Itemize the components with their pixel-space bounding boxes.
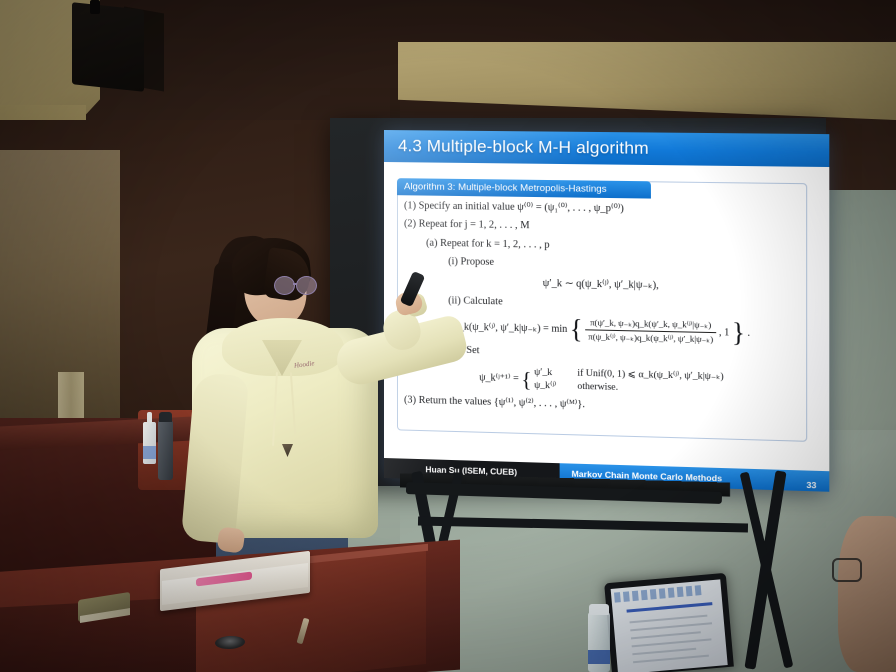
toolbar-icon xyxy=(623,591,630,601)
set-case-2-value: ψ_k⁽ʲ⁾ xyxy=(534,379,575,393)
speaker-bracket xyxy=(90,0,100,14)
algo-step-2: (2) Repeat for j = 1, 2, . . . , M xyxy=(404,220,802,236)
slide-title: 4.3 Multiple-block M-H algorithm xyxy=(384,136,649,159)
laptop-doc-line xyxy=(633,655,709,664)
cases-brace-icon: { xyxy=(521,367,531,391)
audience-member xyxy=(838,516,896,672)
ceiling-speaker-icon xyxy=(72,2,144,92)
laptop-doc-line xyxy=(631,631,701,639)
sanitizer-label xyxy=(143,446,156,459)
algorithm-steps: (1) Specify an initial value ψ⁽⁰⁾ = (ψ₁⁽… xyxy=(404,201,802,424)
algo-step-3: (3) Return the values {ψ⁽¹⁾, ψ⁽²⁾, . . .… xyxy=(404,395,802,416)
lecture-room-scene: 4.3 Multiple-block M-H algorithm Algorit… xyxy=(0,0,896,672)
set-case-2-condition: otherwise. xyxy=(577,380,618,392)
toolbar-icon xyxy=(614,592,621,602)
laptop-doc-line xyxy=(630,622,712,631)
alpha-denominator: π(ψ_k⁽ʲ⁾, ψ₋ₖ)q_k(ψ_k⁽ʲ⁾, ψ′_k|ψ₋ₖ) xyxy=(585,331,716,346)
algo-step-1: (1) Specify an initial value ψ⁽⁰⁾ = (ψ₁⁽… xyxy=(404,201,802,217)
alpha-one-term: , 1 xyxy=(719,327,729,338)
laptop-doc-line xyxy=(630,615,708,624)
laptop-doc-line xyxy=(632,648,696,656)
right-brace-icon: } xyxy=(732,318,745,348)
set-case-1-condition: if Unif(0, 1) ⩽ α_k(ψ_k⁽ʲ⁾, ψ′_k|ψ₋ₖ) xyxy=(577,367,723,382)
glasses-lens-left xyxy=(274,276,295,295)
algorithm-box-title: Algorithm 3: Multiple-block Metropolis-H… xyxy=(397,181,607,195)
audience-laptop xyxy=(604,573,734,672)
presenter-left-hand xyxy=(216,526,245,553)
toolbar-icon xyxy=(668,587,675,597)
toolbar-icon xyxy=(650,589,657,599)
laptop-doc-header-rule xyxy=(627,602,713,612)
glasses-lens-right xyxy=(296,276,317,295)
slide-body: Algorithm 3: Multiple-block Metropolis-H… xyxy=(384,162,829,455)
alpha-lhs: α_k(ψ_k⁽ʲ⁾, ψ′_k|ψ₋ₖ) = min xyxy=(454,322,568,336)
toolbar-icon xyxy=(632,591,639,601)
set-equation: ψ_k⁽ʲ⁺¹⁾ = { ψ′_k if Unif(0, 1) ⩽ α_k(ψ_… xyxy=(404,363,802,399)
toolbar-icon xyxy=(686,586,693,596)
left-brace-icon: { xyxy=(570,315,583,345)
slide-title-bar: 4.3 Multiple-block M-H algorithm xyxy=(384,130,829,167)
toolbar-icon xyxy=(641,590,648,600)
set-lhs: ψ_k⁽ʲ⁺¹⁾ = xyxy=(479,372,519,384)
algo-step-2a: (a) Repeat for k = 1, 2, . . . , p xyxy=(404,238,802,255)
water-bottle-cap xyxy=(589,604,609,615)
laptop-doc-line xyxy=(632,638,712,647)
toolbar-icon xyxy=(659,588,666,598)
alpha-fraction: π(ψ′_k, ψ₋ₖ)q_k(ψ′_k, ψ_k⁽ʲ⁾|ψ₋ₖ) π(ψ_k⁽… xyxy=(585,318,716,346)
sanitizer-pump-icon xyxy=(147,412,152,424)
toolbar-icon xyxy=(695,585,702,595)
alpha-period: . xyxy=(748,328,751,339)
algo-step-2a-i: (i) Propose xyxy=(404,256,802,273)
water-bottle-label xyxy=(588,650,610,664)
presenter-glasses-icon xyxy=(274,276,318,293)
algorithm-box: Algorithm 3: Multiple-block Metropolis-H… xyxy=(397,178,807,442)
audience-glasses-icon xyxy=(832,558,862,582)
algorithm-box-header: Algorithm 3: Multiple-block Metropolis-H… xyxy=(397,178,651,198)
set-case-1-value: ψ′_k xyxy=(534,366,575,380)
presentation-slide: 4.3 Multiple-block M-H algorithm Algorit… xyxy=(384,130,829,492)
algo-step-2a-ii: (ii) Calculate xyxy=(404,296,802,314)
laptop-screen xyxy=(611,579,728,672)
set-cases: ψ′_k if Unif(0, 1) ⩽ α_k(ψ_k⁽ʲ⁾, ψ′_k|ψ₋… xyxy=(534,366,724,397)
propose-equation: ψ′_k ∼ q(ψ_k⁽ʲ⁾, ψ′_k|ψ₋ₖ), xyxy=(404,275,802,295)
slide-page-number: 33 xyxy=(794,470,830,492)
toolbar-icon xyxy=(677,587,684,597)
